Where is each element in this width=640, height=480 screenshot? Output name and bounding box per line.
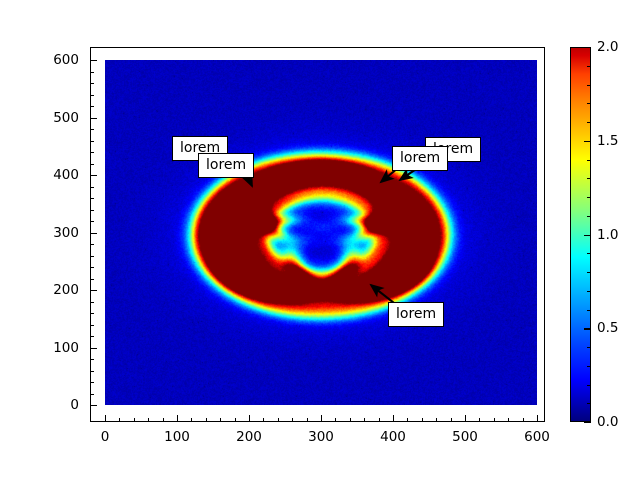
colorbar-minor-tick	[587, 347, 591, 348]
colorbar-minor-tick	[587, 122, 591, 123]
x-minor-tick	[278, 418, 279, 422]
x-major-tick	[177, 415, 178, 422]
annotation-bottom[interactable]: lorem	[388, 302, 444, 327]
y-minor-tick	[90, 83, 94, 84]
y-minor-tick	[90, 256, 94, 257]
colorbar-major-tick	[584, 47, 591, 48]
y-tick-label: 100	[0, 340, 79, 356]
y-minor-tick	[90, 359, 94, 360]
colorbar-minor-tick	[587, 310, 591, 311]
colorbar-minor-tick	[587, 291, 591, 292]
x-minor-tick	[235, 418, 236, 422]
x-major-tick	[249, 415, 250, 422]
y-minor-tick	[90, 210, 94, 211]
x-tick-label: 100	[164, 429, 190, 445]
y-major-tick	[90, 348, 97, 349]
x-minor-tick	[422, 418, 423, 422]
x-tick-label: 500	[452, 429, 478, 445]
x-minor-tick	[364, 418, 365, 422]
x-minor-tick	[134, 418, 135, 422]
y-tick-label: 400	[0, 167, 79, 183]
y-tick-label: 500	[0, 110, 79, 126]
x-minor-tick	[508, 418, 509, 422]
y-minor-tick	[90, 129, 94, 130]
x-major-tick	[393, 415, 394, 422]
x-minor-tick	[191, 418, 192, 422]
x-minor-tick	[479, 418, 480, 422]
colorbar-major-tick	[584, 328, 591, 329]
y-tick-label: 0	[0, 397, 79, 413]
y-tick-label: 600	[0, 52, 79, 68]
y-major-tick	[90, 60, 97, 61]
colorbar-tick-label: 1.5	[597, 133, 618, 149]
y-minor-tick	[90, 267, 94, 268]
colorbar-minor-tick	[587, 103, 591, 104]
heatmap-canvas	[105, 60, 537, 405]
colorbar-tick-label: 1.0	[597, 227, 618, 243]
y-major-tick	[90, 118, 97, 119]
x-tick-label: 200	[236, 429, 262, 445]
y-minor-tick	[90, 382, 94, 383]
colorbar-minor-tick	[587, 178, 591, 179]
colorbar-minor-tick	[587, 85, 591, 86]
colorbar-minor-tick	[587, 385, 591, 386]
colorbar-tick-label: 0.5	[597, 320, 618, 336]
x-minor-tick	[407, 418, 408, 422]
x-minor-tick	[436, 418, 437, 422]
y-minor-tick	[90, 244, 94, 245]
x-major-tick	[537, 415, 538, 422]
x-major-tick	[465, 415, 466, 422]
heatmap-image	[105, 60, 537, 405]
x-minor-tick	[451, 418, 452, 422]
x-minor-tick	[119, 418, 120, 422]
x-tick-label: 0	[101, 429, 110, 445]
x-minor-tick	[292, 418, 293, 422]
x-major-tick	[321, 415, 322, 422]
colorbar-minor-tick	[587, 160, 591, 161]
x-minor-tick	[163, 418, 164, 422]
colorbar-major-tick	[584, 141, 591, 142]
y-minor-tick	[90, 325, 94, 326]
y-minor-tick	[90, 336, 94, 337]
y-minor-tick	[90, 106, 94, 107]
y-minor-tick	[90, 141, 94, 142]
y-minor-tick	[90, 394, 94, 395]
x-minor-tick	[220, 418, 221, 422]
colorbar-minor-tick	[587, 366, 591, 367]
colorbar-tick-label: 0.0	[597, 414, 618, 430]
colorbar-major-tick	[584, 422, 591, 423]
y-minor-tick	[90, 279, 94, 280]
x-tick-label: 400	[380, 429, 406, 445]
colorbar-minor-tick	[587, 253, 591, 254]
y-minor-tick	[90, 313, 94, 314]
annotation-top-left-front[interactable]: lorem	[198, 153, 254, 178]
y-minor-tick	[90, 371, 94, 372]
figure-canvas: 0100200300400500600 0100200300400500600 …	[0, 0, 640, 480]
y-minor-tick	[90, 72, 94, 73]
x-minor-tick	[379, 418, 380, 422]
y-major-tick	[90, 405, 97, 406]
y-major-tick	[90, 175, 97, 176]
colorbar-minor-tick	[587, 197, 591, 198]
y-minor-tick	[90, 164, 94, 165]
y-major-tick	[90, 233, 97, 234]
colorbar-major-tick	[584, 235, 591, 236]
y-minor-tick	[90, 198, 94, 199]
x-minor-tick	[350, 418, 351, 422]
y-minor-tick	[90, 221, 94, 222]
x-minor-tick	[206, 418, 207, 422]
x-tick-label: 600	[524, 429, 550, 445]
colorbar-minor-tick	[587, 66, 591, 67]
y-minor-tick	[90, 95, 94, 96]
x-major-tick	[105, 415, 106, 422]
x-tick-label: 300	[308, 429, 334, 445]
y-minor-tick	[90, 302, 94, 303]
colorbar-minor-tick	[587, 272, 591, 273]
y-minor-tick	[90, 152, 94, 153]
colorbar-minor-tick	[587, 216, 591, 217]
y-tick-label: 300	[0, 225, 79, 241]
colorbar-minor-tick	[587, 403, 591, 404]
colorbar-tick-label: 2.0	[597, 39, 618, 55]
x-minor-tick	[494, 418, 495, 422]
y-major-tick	[90, 290, 97, 291]
x-minor-tick	[335, 418, 336, 422]
y-minor-tick	[90, 187, 94, 188]
x-minor-tick	[307, 418, 308, 422]
annotation-top-right-front[interactable]: lorem	[392, 146, 448, 171]
x-minor-tick	[148, 418, 149, 422]
x-minor-tick	[263, 418, 264, 422]
x-minor-tick	[523, 418, 524, 422]
y-tick-label: 200	[0, 282, 79, 298]
